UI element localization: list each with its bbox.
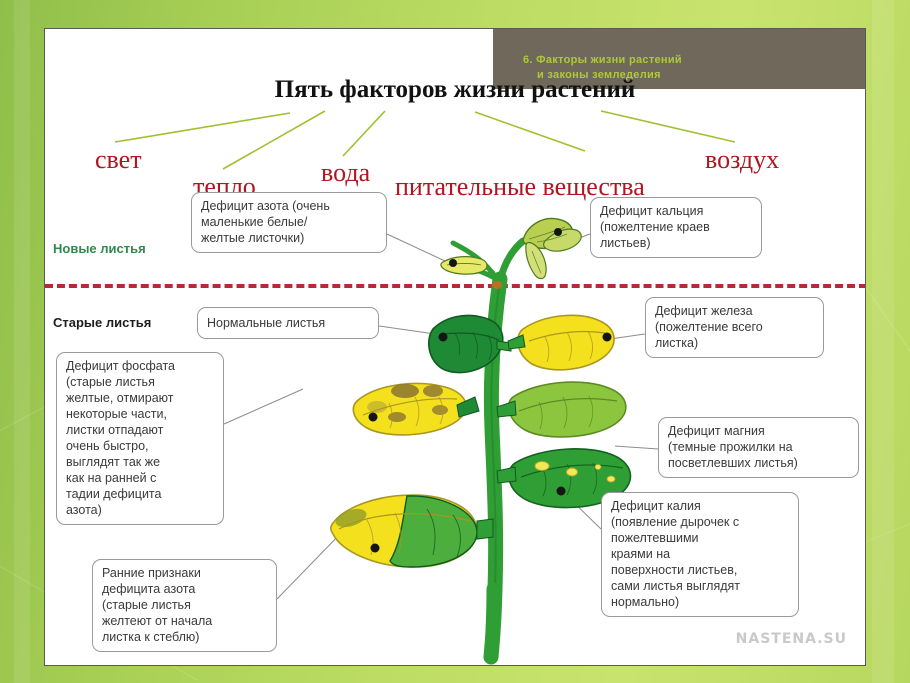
callout-phosphate-deficiency: Дефицит фосфата (старые листья желтые, о… [56, 352, 224, 525]
background-band-2 [872, 0, 894, 683]
slide-content-panel: 6. Факторы жизни растений и законы земле… [44, 28, 866, 666]
leaf-iron-deficiency-yellow [518, 315, 614, 369]
background-band-1 [14, 0, 30, 683]
slide: 6. Факторы жизни растений и законы земле… [0, 0, 910, 683]
callout-iron-deficiency: Дефицит железа (пожелтение всего листка) [645, 297, 824, 358]
leaf-hole-4 [607, 476, 615, 482]
leaf-hole-1 [535, 462, 549, 471]
leaf-hole-3 [595, 465, 601, 470]
watermark: NASTENA.SU [736, 631, 847, 647]
callout-early-nitrogen-deficiency: Ранние признаки дефицита азота (старые л… [92, 559, 277, 652]
leaf-hole-2 [567, 468, 578, 476]
callout-magnesium-deficiency: Дефицит магния (темные прожилки на посве… [658, 417, 859, 478]
callout-anchor-iron [603, 333, 612, 342]
callout-potassium-deficiency: Дефицит калия (появление дырочек с пожел… [601, 492, 799, 617]
callout-anchor-early-nitrogen [371, 544, 380, 553]
callout-anchor-phosphate [369, 413, 378, 422]
callout-anchor-potassium [557, 487, 566, 496]
callout-nitrogen-deficiency: Дефицит азота (очень маленькие белые/ же… [191, 192, 387, 253]
callout-calcium-deficiency: Дефицит кальция (пожелтение краев листье… [590, 197, 762, 258]
callout-anchor-normal [439, 333, 448, 342]
callout-normal-leaves: Нормальные листья [197, 307, 379, 339]
callout-anchor-nitrogen [449, 259, 457, 267]
callout-anchor-calcium [554, 228, 562, 236]
leaf-new-tiny-yellow [441, 257, 487, 275]
